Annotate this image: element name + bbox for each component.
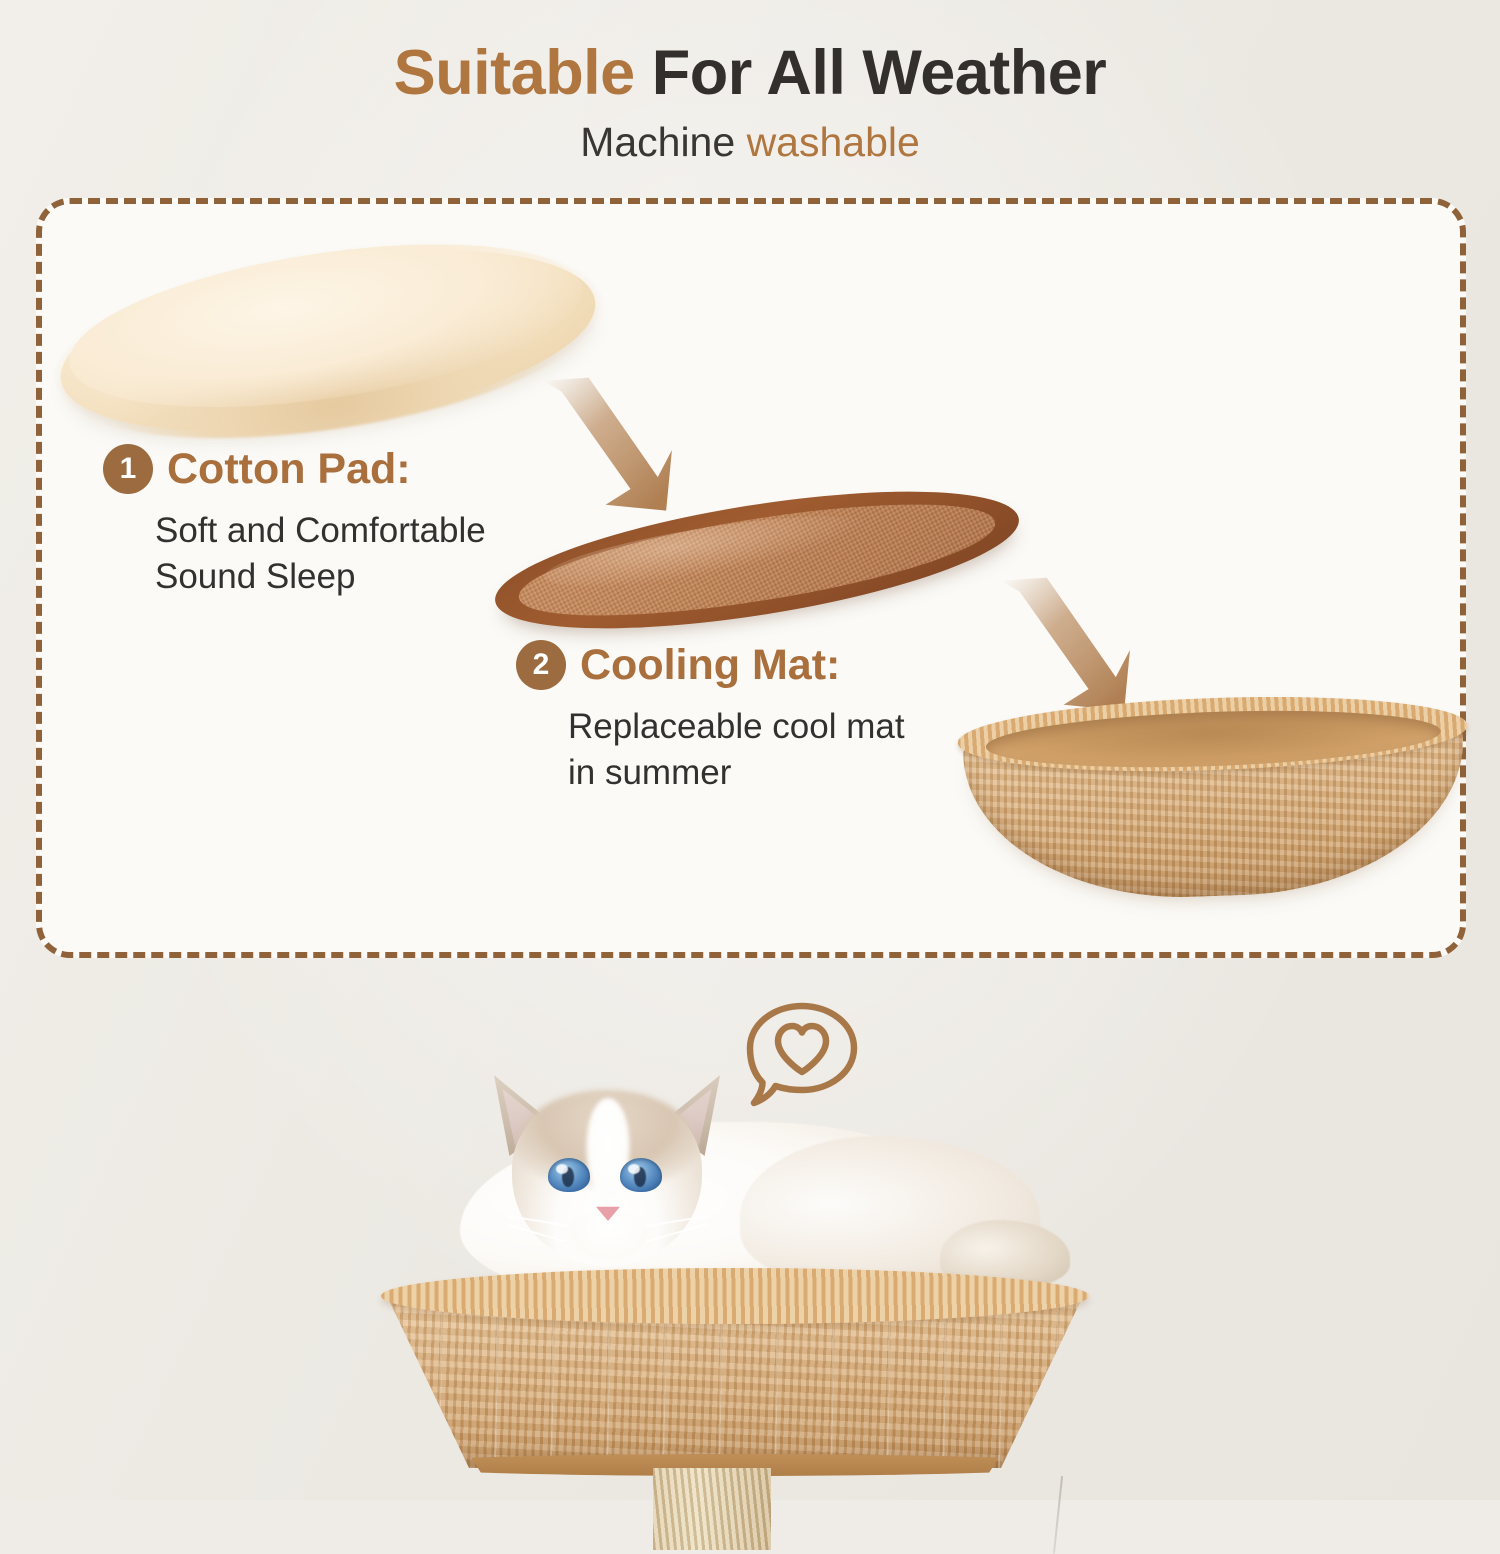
ragdoll-cat <box>440 1050 1000 1300</box>
feature-number-badge: 2 <box>516 640 566 690</box>
page-title: Suitable For All Weather <box>0 40 1500 106</box>
page-subtitle-accent: washable <box>747 119 920 165</box>
cat-whisker <box>508 1215 569 1226</box>
cat-whisker <box>507 1224 565 1242</box>
basket-rim <box>381 1268 1089 1324</box>
feature-callout-cotton-pad: 1 Cotton Pad: Soft and Comfortable Sound… <box>103 444 486 600</box>
page-title-accent: Suitable <box>394 38 635 108</box>
header: Suitable For All Weather Machine washabl… <box>0 40 1500 165</box>
page-title-rest: For All Weather <box>635 38 1107 108</box>
arrow-down-right-icon <box>520 368 710 538</box>
feature-description: Soft and Comfortable Sound Sleep <box>155 508 486 600</box>
page-subtitle: Machine washable <box>0 120 1500 165</box>
cat-tree-woven-basket <box>385 1268 1085 1483</box>
woven-rattan-basket-image <box>961 681 1469 923</box>
product-photo-scene <box>0 1020 1500 1500</box>
cat-eye-right <box>620 1158 662 1192</box>
feature-label: Cotton Pad: <box>167 445 411 494</box>
feature-number-badge: 1 <box>103 444 153 494</box>
feature-description: Replaceable cool mat in summer <box>568 704 905 796</box>
cat-face <box>512 1092 702 1266</box>
page-subtitle-dark: Machine <box>580 119 746 165</box>
cat-facial-blaze <box>586 1098 630 1206</box>
sisal-scratching-post <box>653 1468 771 1550</box>
hanging-cord <box>1053 1476 1063 1554</box>
cat-head <box>498 1076 716 1266</box>
feature-callout-cooling-mat: 2 Cooling Mat: Replaceable cool mat in s… <box>516 640 905 796</box>
cat-whisker <box>645 1223 707 1242</box>
feature-label: Cooling Mat: <box>580 641 840 690</box>
feature-heading: 1 Cotton Pad: <box>103 444 486 494</box>
cat-eye-left <box>548 1158 590 1192</box>
feature-heading: 2 Cooling Mat: <box>516 640 905 690</box>
